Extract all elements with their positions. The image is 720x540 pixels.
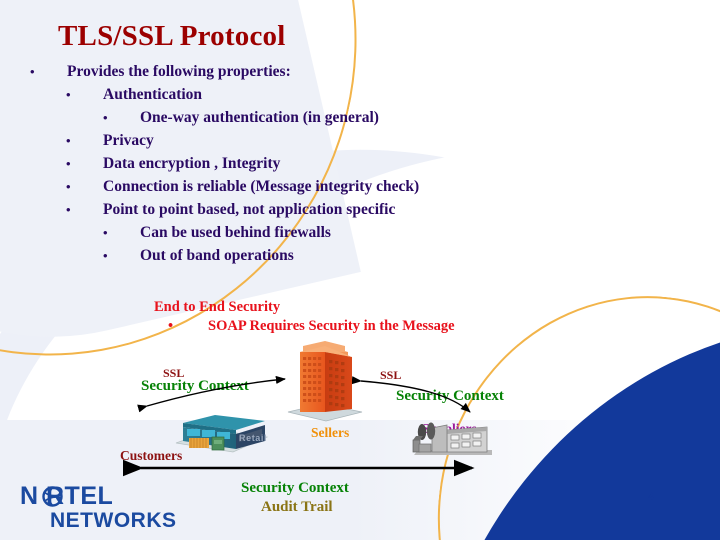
bullet-text: Data encryption , Integrity — [103, 152, 280, 175]
nortel-networks-logo: N RTEL NETWORKS — [20, 484, 177, 532]
bullet-marker: • — [66, 129, 71, 152]
arrow-customers-to-sellers — [147, 379, 285, 406]
logo-wordmark-bottom: NETWORKS — [50, 509, 177, 532]
bullet-list: • Provides the following properties: • A… — [0, 60, 720, 267]
slide-canvas: TLS/SSL Protocol • Provides the followin… — [0, 0, 720, 540]
bullet-row: • Provides the following properties: — [0, 60, 720, 83]
bullet-marker: • — [66, 175, 71, 198]
bullet-text: Out of band operations — [140, 244, 294, 267]
logo-line-1: N RTEL — [20, 484, 177, 509]
bullet-text: Connection is reliable (Message integrit… — [103, 175, 419, 198]
callout-heading: End to End Security — [154, 299, 280, 316]
bullet-marker: • — [103, 221, 108, 244]
bullet-marker: • — [103, 244, 108, 267]
bullet-row: • Out of band operations — [0, 244, 720, 267]
bullet-text: Point to point based, not application sp… — [103, 198, 395, 221]
bullet-row: • One-way authentication (in general) — [0, 106, 720, 129]
bullet-row: • Authentication — [0, 83, 720, 106]
retail-sign-text: Retail — [239, 433, 267, 443]
bullet-text: Provides the following properties: — [67, 60, 291, 83]
supplier-factory-icon — [413, 423, 492, 456]
page-number: 4 — [648, 489, 654, 504]
bullet-marker: • — [103, 106, 108, 129]
callout-sub-text: SOAP Requires Security in the Message — [208, 318, 455, 334]
bullet-text: One-way authentication (in general) — [140, 106, 379, 129]
bullet-marker: • — [66, 198, 71, 221]
callout-subline: •SOAP Requires Security in the Message — [168, 318, 455, 335]
bullet-text: Authentication — [103, 83, 202, 106]
sellers-building-icon — [288, 341, 362, 421]
bullet-marker: • — [66, 152, 71, 175]
bullet-row: • Privacy — [0, 129, 720, 152]
bullet-row: • Data encryption , Integrity — [0, 152, 720, 175]
bullet-marker: • — [30, 60, 35, 83]
globe-icon — [42, 486, 63, 507]
callout-marker: • — [168, 318, 208, 335]
arrow-sellers-to-suppliers — [361, 381, 470, 412]
bullet-text: Can be used behind firewalls — [140, 221, 331, 244]
logo-wordmark-top: N RTEL — [20, 482, 113, 510]
bullet-row: • Can be used behind firewalls — [0, 221, 720, 244]
page-title: TLS/SSL Protocol — [58, 20, 285, 53]
bullet-marker: • — [66, 83, 71, 106]
retail-store-icon: Retail — [176, 415, 267, 452]
bullet-text: Privacy — [103, 129, 154, 152]
bullet-row: • Point to point based, not application … — [0, 198, 720, 221]
bullet-row: • Connection is reliable (Message integr… — [0, 175, 720, 198]
